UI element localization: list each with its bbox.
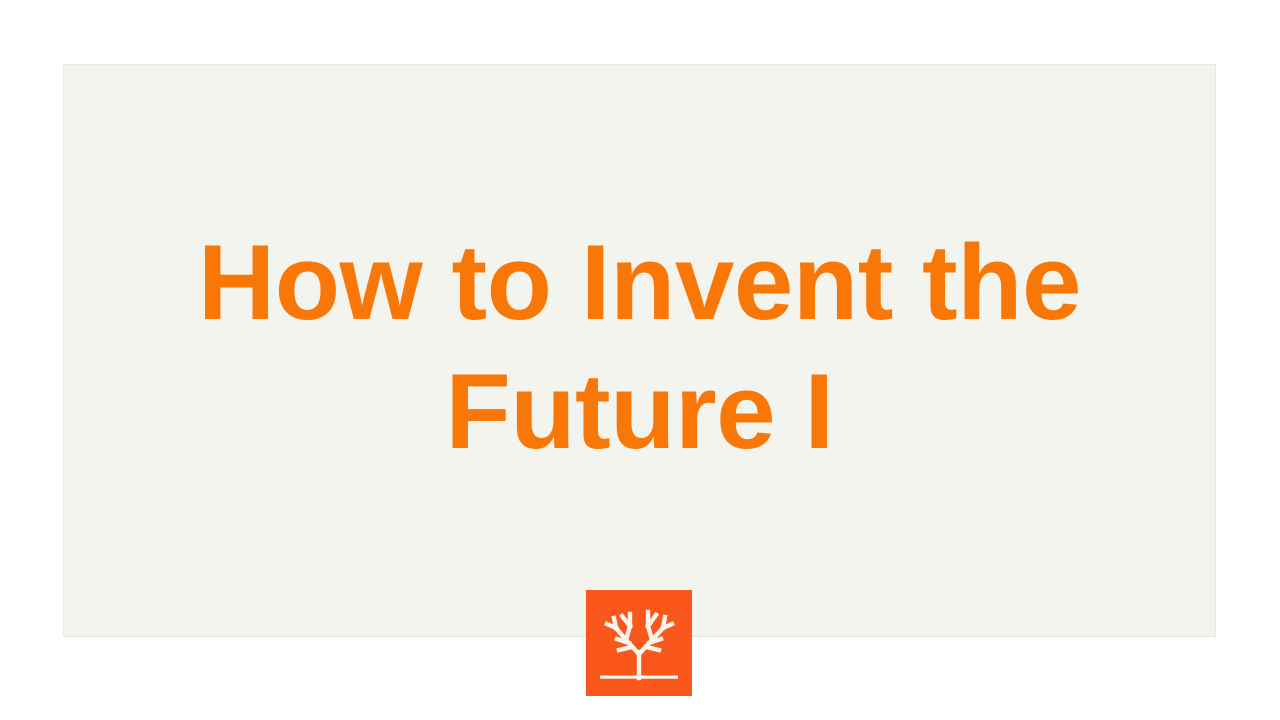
slide-root: How to Invent the Future I — [0, 0, 1280, 720]
ground-line — [600, 676, 678, 679]
tree-icon — [586, 590, 692, 696]
page-title: How to Invent the Future I — [63, 218, 1216, 476]
tree-logo — [586, 590, 692, 696]
